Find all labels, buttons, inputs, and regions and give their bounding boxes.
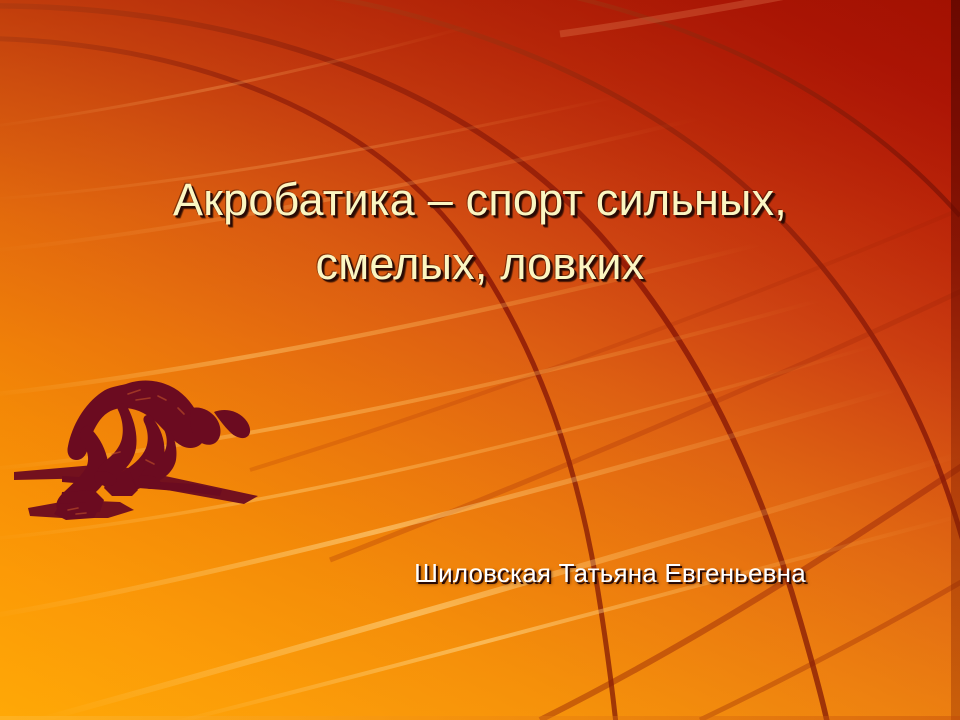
sprinter-silhouette-image bbox=[8, 368, 276, 544]
background-light-streaks bbox=[0, 0, 960, 720]
slide-author: Шиловская Татьяна Евгеньевна bbox=[300, 558, 920, 589]
background-shade-overlay bbox=[0, 0, 960, 720]
presentation-slide: Акробатика – спорт сильных, смелых, ловк… bbox=[0, 0, 960, 720]
track-lane-arcs bbox=[0, 0, 960, 720]
slide-title: Акробатика – спорт сильных, смелых, ловк… bbox=[40, 168, 920, 296]
slide-right-edge bbox=[951, 0, 960, 720]
slide-bottom-edge bbox=[0, 716, 960, 720]
background-gradient bbox=[0, 0, 960, 720]
